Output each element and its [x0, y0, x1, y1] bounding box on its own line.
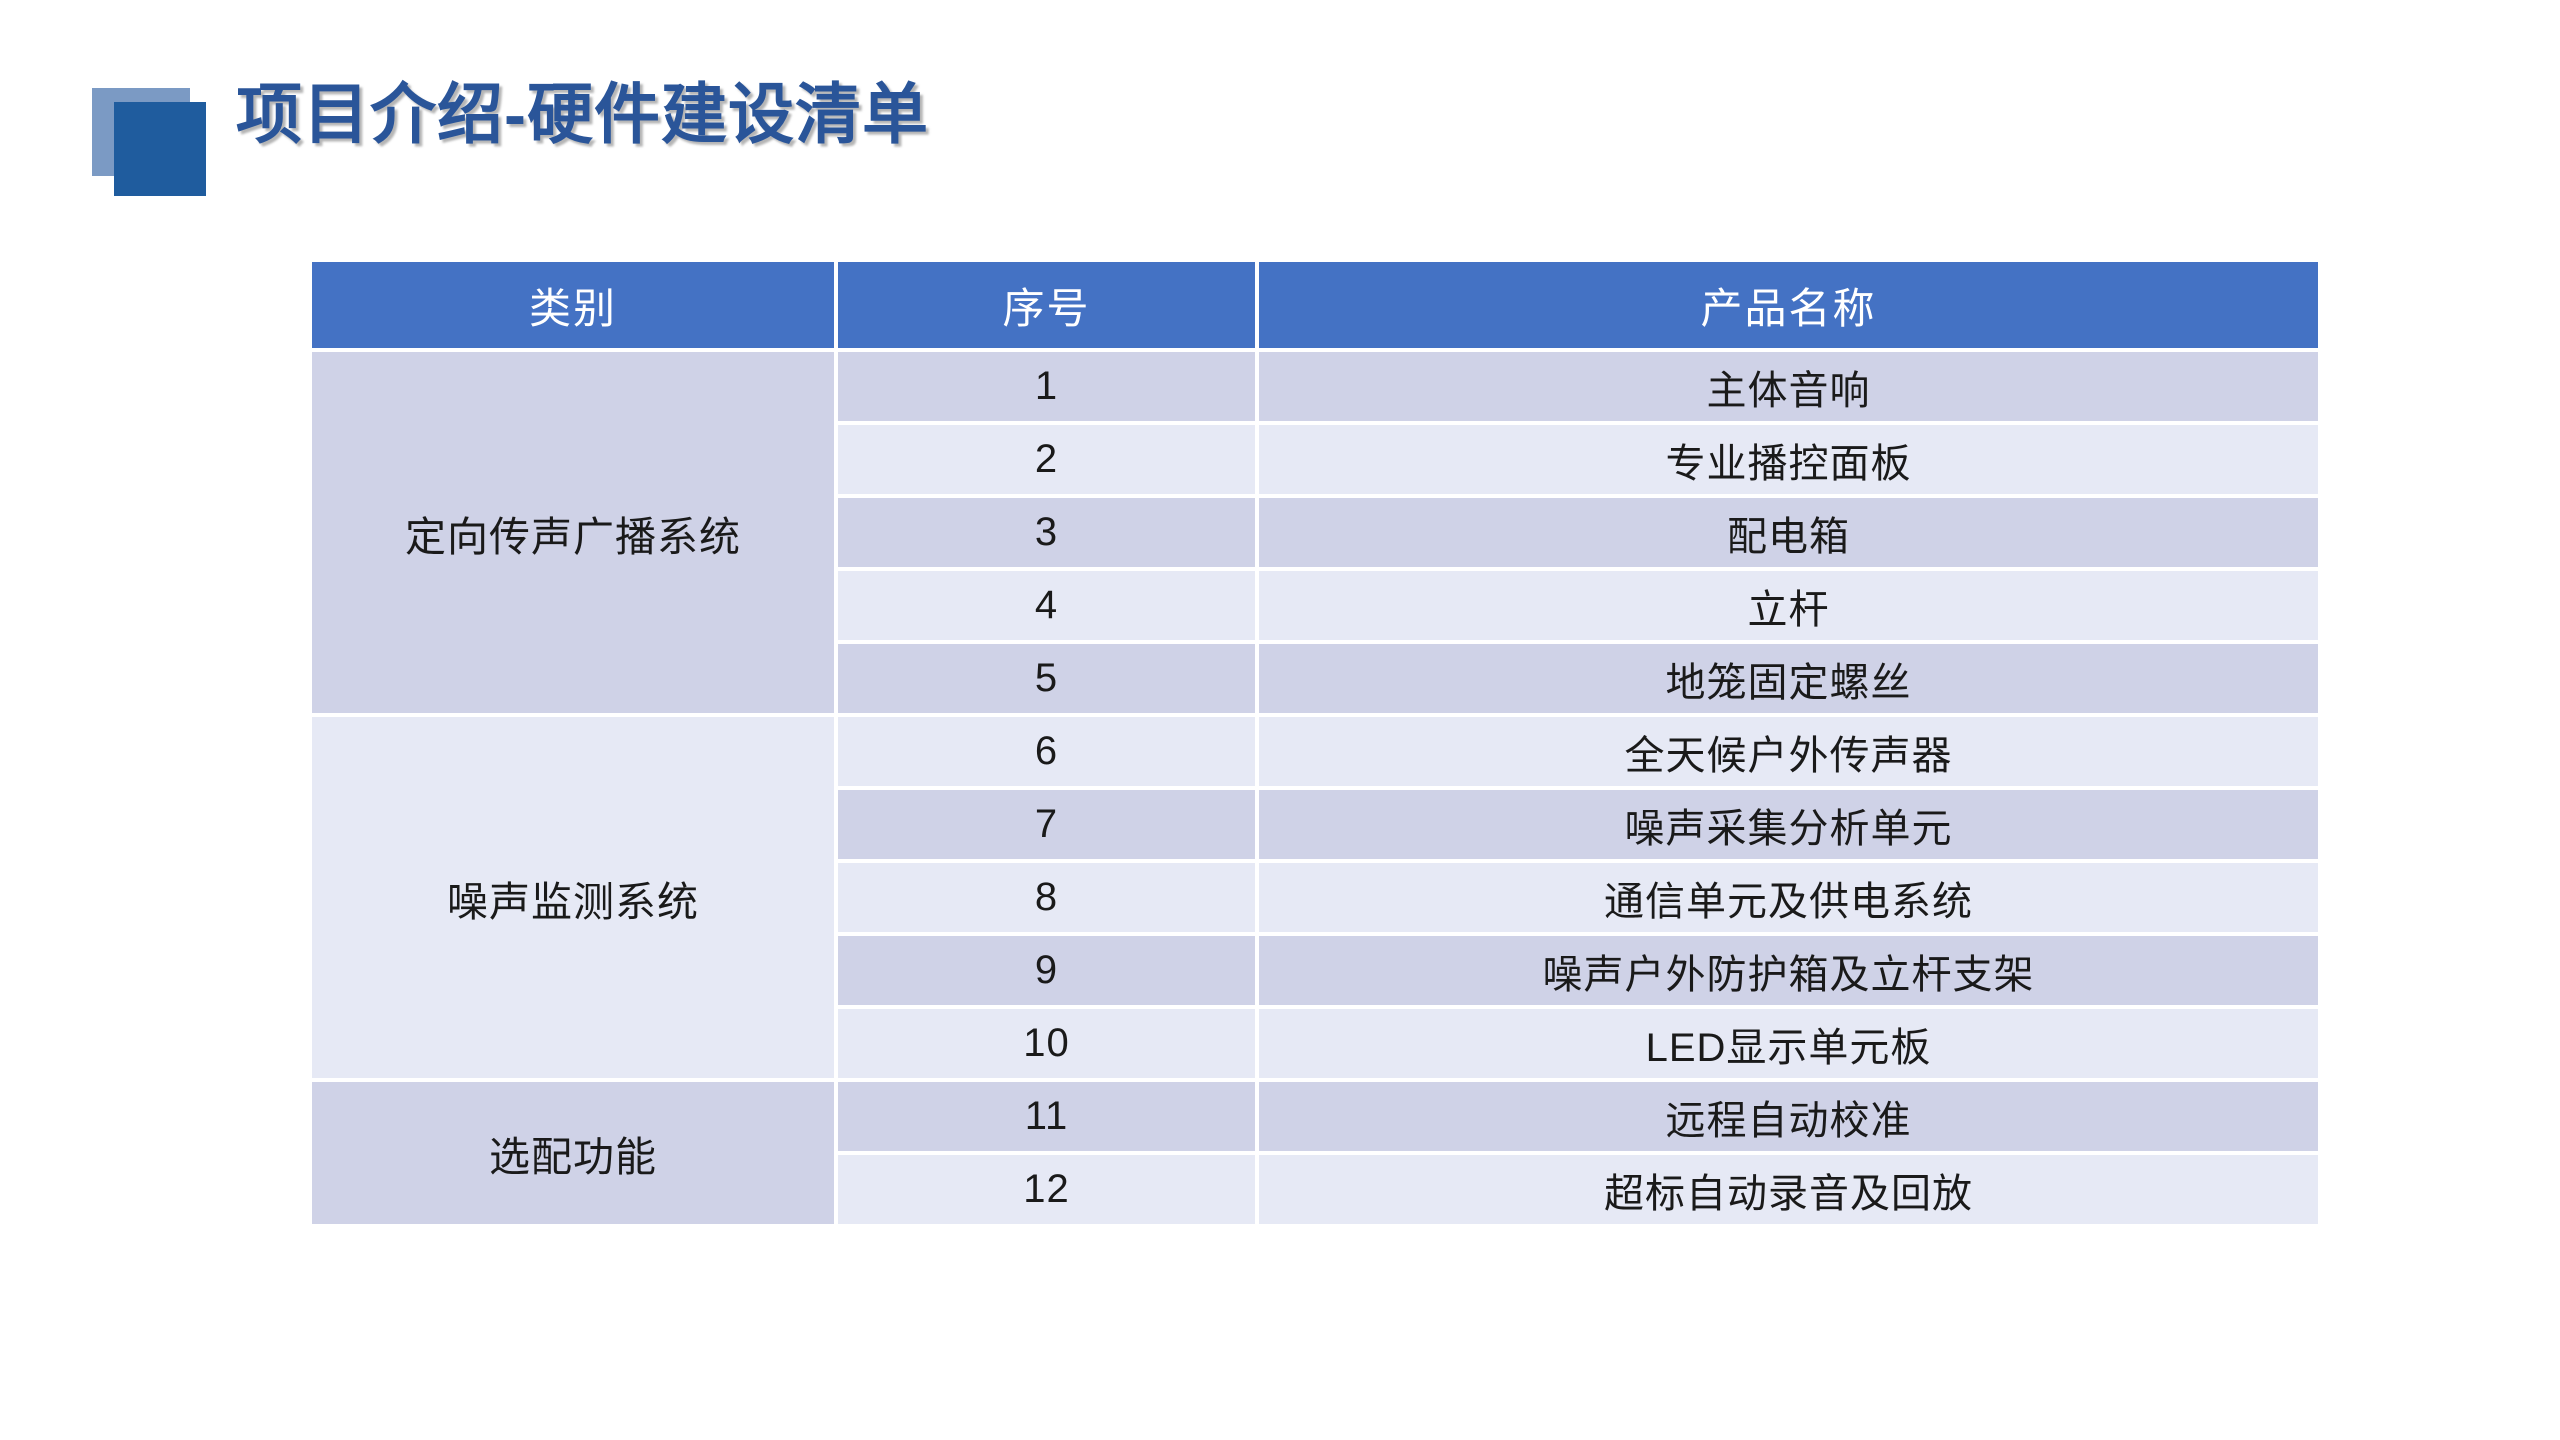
index-cell: 2 [838, 425, 1255, 494]
column-header-index: 序号 [838, 262, 1255, 348]
index-cell: 11 [838, 1082, 1255, 1151]
product-name-cell: 配电箱 [1259, 498, 2318, 567]
product-name-cell: 超标自动录音及回放 [1259, 1155, 2318, 1224]
product-name-cell: 专业播控面板 [1259, 425, 2318, 494]
table-body: 定向传声广播系统1主体音响2专业播控面板3配电箱4立杆5地笼固定螺丝噪声监测系统… [312, 352, 2318, 1224]
index-cell: 9 [838, 936, 1255, 1005]
product-name-cell: 噪声采集分析单元 [1259, 790, 2318, 859]
index-cell: 6 [838, 717, 1255, 786]
table-header-row: 类别 序号 产品名称 [312, 262, 2318, 348]
table-header: 类别 序号 产品名称 [312, 262, 2318, 348]
category-cell: 选配功能 [312, 1082, 834, 1224]
index-cell: 1 [838, 352, 1255, 421]
index-cell: 8 [838, 863, 1255, 932]
product-name-cell: 通信单元及供电系统 [1259, 863, 2318, 932]
product-name-cell: 立杆 [1259, 571, 2318, 640]
column-header-product-name: 产品名称 [1259, 262, 2318, 348]
category-cell: 噪声监测系统 [312, 717, 834, 1078]
table-row: 噪声监测系统6全天候户外传声器 [312, 717, 2318, 786]
product-name-cell: 主体音响 [1259, 352, 2318, 421]
index-cell: 12 [838, 1155, 1255, 1224]
hardware-list-table: 类别 序号 产品名称 定向传声广播系统1主体音响2专业播控面板3配电箱4立杆5地… [308, 258, 2322, 1228]
product-name-cell: 地笼固定螺丝 [1259, 644, 2318, 713]
product-name-cell: LED显示单元板 [1259, 1009, 2318, 1078]
column-header-category: 类别 [312, 262, 834, 348]
product-name-cell: 全天候户外传声器 [1259, 717, 2318, 786]
category-cell: 定向传声广播系统 [312, 352, 834, 713]
index-cell: 5 [838, 644, 1255, 713]
index-cell: 10 [838, 1009, 1255, 1078]
slide-title-block: 项目介绍-硬件建设清单 [0, 0, 2560, 230]
decoration-square-front [114, 102, 206, 196]
index-cell: 4 [838, 571, 1255, 640]
table-row: 选配功能11远程自动校准 [312, 1082, 2318, 1151]
table-row: 定向传声广播系统1主体音响 [312, 352, 2318, 421]
product-name-cell: 噪声户外防护箱及立杆支架 [1259, 936, 2318, 1005]
index-cell: 7 [838, 790, 1255, 859]
page-title: 项目介绍-硬件建设清单 [236, 76, 929, 154]
index-cell: 3 [838, 498, 1255, 567]
title-decoration-squares [92, 88, 216, 196]
product-name-cell: 远程自动校准 [1259, 1082, 2318, 1151]
